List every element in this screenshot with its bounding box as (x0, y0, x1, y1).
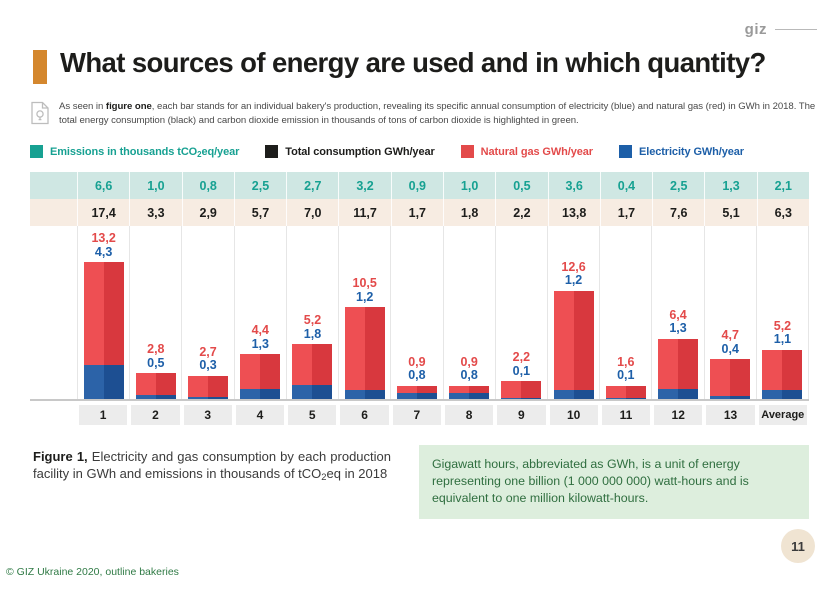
intro-part-1: As seen in (59, 101, 106, 112)
electricity-value-label-1: 4,3 (78, 246, 129, 260)
x-axis-tick-2: 2 (131, 405, 179, 425)
intro-block: As seen in figure one, each bar stands f… (30, 100, 817, 129)
stacked-bar-9 (501, 381, 541, 399)
x-axis-tick-11: 11 (602, 405, 650, 425)
total-cell-8: 1,8 (443, 199, 495, 226)
emissions-cell-9: 0,5 (495, 172, 547, 199)
legend-item-emissions: Emissions in thousands tCO2eq/year (30, 145, 239, 158)
intro-emphasis: figure one (106, 101, 152, 112)
electricity-value-label-11: 0,1 (600, 369, 651, 383)
total-cell-7: 1,7 (391, 199, 443, 226)
row-label-spacer (30, 199, 77, 226)
bar-value-labels-13: 4,70,4 (705, 329, 756, 356)
emissions-cell-7: 0,9 (391, 172, 443, 199)
xaxis-left-gutter (30, 405, 77, 425)
legend-swatch-emissions (30, 145, 43, 158)
electricity-segment-1 (84, 365, 124, 399)
total-cell-3: 2,9 (182, 199, 234, 226)
stacked-bar-5 (292, 344, 332, 399)
gas-segment-4 (240, 354, 280, 388)
gas-value-label-1: 13,2 (78, 232, 129, 246)
total-cell-Average: 6,3 (757, 199, 809, 226)
emissions-cell-12: 2,5 (652, 172, 704, 199)
total-cell-9: 2,2 (495, 199, 547, 226)
electricity-value-label-3: 0,3 (182, 359, 233, 373)
electricity-value-label-8: 0,8 (444, 369, 495, 383)
x-axis-tick-13: 13 (706, 405, 754, 425)
chart-column-13: 4,70,4 (704, 226, 756, 399)
legend-label-gas: Natural gas GWh/year (481, 146, 593, 158)
stacked-bar-3 (188, 376, 228, 399)
chart-column-1: 13,24,3 (77, 226, 129, 399)
x-axis-tick-4: 4 (236, 405, 284, 425)
gas-value-label-2: 2,8 (130, 343, 181, 357)
copyright-note: © GIZ Ukraine 2020, outline bakeries (6, 566, 179, 578)
chart-column-2: 2,80,5 (129, 226, 181, 399)
chart-column-11: 1,60,1 (599, 226, 651, 399)
electricity-value-label-4: 1,3 (235, 338, 286, 352)
title-accent-bar (33, 50, 47, 84)
emissions-cell-6: 3,2 (338, 172, 390, 199)
emissions-value-row: 6,61,00,82,52,73,20,91,00,53,60,42,51,32… (30, 172, 809, 199)
emissions-cell-5: 2,7 (286, 172, 338, 199)
electricity-segment-12 (658, 389, 698, 399)
total-cell-2: 3,3 (129, 199, 181, 226)
gas-value-label-Average: 5,2 (757, 320, 808, 334)
chart-column-3: 2,70,3 (181, 226, 233, 399)
gas-value-label-13: 4,7 (705, 329, 756, 343)
bar-value-labels-6: 10,51,2 (339, 277, 390, 304)
legend-label-emissions-sub: 2 (197, 150, 201, 159)
gwh-definition-callout: Gigawatt hours, abbreviated as GWh, is a… (419, 445, 809, 519)
gas-value-label-8: 0,9 (444, 356, 495, 370)
giz-logo: giz (745, 22, 817, 37)
stacked-bar-6 (345, 307, 385, 399)
stacked-bar-chart: 13,24,32,80,52,70,34,41,35,21,810,51,20,… (30, 226, 809, 399)
total-cell-12: 7,6 (652, 199, 704, 226)
x-axis-tick-6: 6 (340, 405, 388, 425)
gas-segment-1 (84, 262, 124, 365)
gas-segment-10 (554, 291, 594, 390)
legend-label-total: Total consumption GWh/year (285, 146, 434, 158)
x-axis-tick-Average: Average (759, 405, 807, 425)
x-axis-tick-9: 9 (497, 405, 545, 425)
bar-value-labels-8: 0,90,8 (444, 356, 495, 383)
logo-text: giz (745, 22, 767, 37)
electricity-value-label-2: 0,5 (130, 357, 181, 371)
x-axis-tick-12: 12 (654, 405, 702, 425)
total-cell-6: 11,7 (338, 199, 390, 226)
stacked-bar-4 (240, 354, 280, 399)
gas-segment-9 (501, 381, 541, 398)
bar-value-labels-12: 6,41,3 (652, 309, 703, 336)
legend-swatch-electricity (619, 145, 632, 158)
stacked-bar-7 (397, 386, 437, 399)
gas-segment-11 (606, 386, 646, 399)
emissions-cell-2: 1,0 (129, 172, 181, 199)
figure-caption-sub: 2 (321, 472, 326, 482)
chart-column-7: 0,90,8 (390, 226, 442, 399)
page-number-badge: 11 (781, 529, 815, 563)
chart-column-6: 10,51,2 (338, 226, 390, 399)
title-text: What sources of energy are used and in w… (60, 48, 766, 78)
gas-value-label-12: 6,4 (652, 309, 703, 323)
electricity-segment-4 (240, 389, 280, 399)
total-consumption-value-row: 17,43,32,95,77,011,71,71,82,213,81,77,65… (30, 199, 809, 226)
x-axis-tick-3: 3 (184, 405, 232, 425)
legend-label-electricity: Electricity GWh/year (639, 146, 744, 158)
gas-value-label-6: 10,5 (339, 277, 390, 291)
gas-segment-13 (710, 359, 750, 396)
gas-value-label-11: 1,6 (600, 356, 651, 370)
electricity-segment-5 (292, 385, 332, 399)
total-cell-1: 17,4 (77, 199, 129, 226)
gwh-definition-text: Gigawatt hours, abbreviated as GWh, is a… (432, 457, 749, 505)
logo-rule (775, 29, 817, 30)
emissions-cell-3: 0,8 (182, 172, 234, 199)
bar-value-labels-5: 5,21,8 (287, 314, 338, 341)
electricity-value-label-10: 1,2 (548, 274, 599, 288)
electricity-value-label-9: 0,1 (496, 365, 547, 379)
gas-value-label-4: 4,4 (235, 324, 286, 338)
electricity-value-label-Average: 1,1 (757, 333, 808, 347)
gas-segment-8 (449, 386, 489, 393)
legend-label-emissions: Emissions in thousands tCO2eq/year (50, 146, 239, 158)
stacked-bar-1 (84, 262, 124, 399)
stacked-bar-11 (606, 386, 646, 399)
emissions-cell-10: 3,6 (548, 172, 600, 199)
gas-segment-5 (292, 344, 332, 385)
page-title: What sources of energy are used and in w… (33, 48, 819, 84)
emissions-cell-8: 1,0 (443, 172, 495, 199)
chart-left-gutter (30, 226, 77, 399)
electricity-value-label-13: 0,4 (705, 343, 756, 357)
gas-segment-6 (345, 307, 385, 389)
electricity-segment-6 (345, 390, 385, 399)
intro-part-2: , each bar stands for an individual bake… (59, 101, 815, 126)
emissions-cell-13: 1,3 (704, 172, 756, 199)
bar-value-labels-3: 2,70,3 (182, 346, 233, 373)
total-cell-4: 5,7 (234, 199, 286, 226)
chart-legend: Emissions in thousands tCO2eq/year Total… (30, 145, 744, 158)
chart-column-8: 0,90,8 (443, 226, 495, 399)
electricity-segment-Average (762, 390, 802, 399)
gas-value-label-7: 0,9 (391, 356, 442, 370)
intro-text: As seen in figure one, each bar stands f… (59, 100, 817, 129)
figure-caption: Figure 1, Electricity and gas consumptio… (33, 448, 391, 482)
x-axis-tick-8: 8 (445, 405, 493, 425)
bar-value-labels-Average: 5,21,1 (757, 320, 808, 347)
gas-value-label-5: 5,2 (287, 314, 338, 328)
figure-caption-label: Figure 1, (33, 449, 88, 464)
bar-value-labels-9: 2,20,1 (496, 351, 547, 378)
total-cell-10: 13,8 (548, 199, 600, 226)
gas-segment-12 (658, 339, 698, 389)
emissions-cell-4: 2,5 (234, 172, 286, 199)
bar-value-labels-11: 1,60,1 (600, 356, 651, 383)
legend-item-gas: Natural gas GWh/year (461, 145, 593, 158)
bar-value-labels-2: 2,80,5 (130, 343, 181, 370)
electricity-value-label-7: 0,8 (391, 369, 442, 383)
chart-column-Average: 5,21,1 (756, 226, 809, 399)
emissions-cell-1: 6,6 (77, 172, 129, 199)
chart-column-5: 5,21,8 (286, 226, 338, 399)
legend-label-emissions-a: Emissions in thousands tCO (50, 146, 197, 158)
chart-x-axis: 12345678910111213Average (30, 405, 809, 425)
chart-column-9: 2,20,1 (495, 226, 547, 399)
gas-value-label-9: 2,2 (496, 351, 547, 365)
bar-value-labels-7: 0,90,8 (391, 356, 442, 383)
bar-value-labels-1: 13,24,3 (78, 232, 129, 259)
emissions-cell-11: 0,4 (600, 172, 652, 199)
chart-column-4: 4,41,3 (234, 226, 286, 399)
x-axis-tick-1: 1 (79, 405, 127, 425)
electricity-value-label-6: 1,2 (339, 291, 390, 305)
electricity-value-label-5: 1,8 (287, 328, 338, 342)
bar-value-labels-4: 4,41,3 (235, 324, 286, 351)
chart-column-12: 6,41,3 (651, 226, 703, 399)
stacked-bar-8 (449, 386, 489, 399)
x-axis-tick-5: 5 (288, 405, 336, 425)
chart-column-10: 12,61,2 (547, 226, 599, 399)
total-cell-13: 5,1 (704, 199, 756, 226)
document-idea-icon (30, 101, 50, 125)
gas-value-label-10: 12,6 (548, 261, 599, 275)
legend-item-electricity: Electricity GWh/year (619, 145, 744, 158)
total-cell-11: 1,7 (600, 199, 652, 226)
row-label-spacer (30, 172, 77, 199)
stacked-bar-13 (710, 359, 750, 399)
total-cell-5: 7,0 (286, 199, 338, 226)
stacked-bar-Average (762, 350, 802, 399)
legend-label-emissions-b: eq/year (201, 146, 239, 158)
infographic-page: giz What sources of energy are used and … (0, 0, 839, 591)
legend-swatch-total (265, 145, 278, 158)
gas-segment-7 (397, 386, 437, 393)
gas-segment-2 (136, 373, 176, 395)
stacked-bar-12 (658, 339, 698, 399)
gas-segment-3 (188, 376, 228, 397)
stacked-bar-2 (136, 373, 176, 399)
emissions-cell-Average: 2,1 (757, 172, 809, 199)
gas-segment-Average (762, 350, 802, 391)
x-axis-tick-10: 10 (550, 405, 598, 425)
legend-item-total: Total consumption GWh/year (265, 145, 434, 158)
x-axis-tick-7: 7 (393, 405, 441, 425)
legend-swatch-gas (461, 145, 474, 158)
electricity-value-label-12: 1,3 (652, 322, 703, 336)
figure-caption-text-b: eq in 2018 (327, 466, 388, 481)
gas-value-label-3: 2,7 (182, 346, 233, 360)
electricity-segment-10 (554, 390, 594, 399)
stacked-bar-10 (554, 291, 594, 399)
bar-value-labels-10: 12,61,2 (548, 261, 599, 288)
chart-baseline-axis (30, 399, 809, 401)
